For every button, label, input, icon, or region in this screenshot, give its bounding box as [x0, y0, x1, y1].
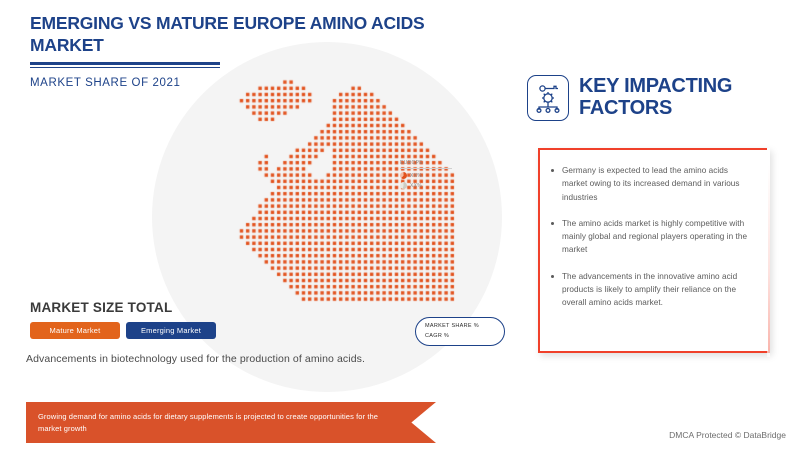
list-item-text: Germany is expected to lead the amino ac… — [562, 166, 740, 202]
key-impacting-factors-list: Germany is expected to lead the amino ac… — [540, 150, 768, 310]
emerging-market-button[interactable]: Emerging Market — [126, 322, 216, 339]
market-size-legend-buttons: Mature Market Emerging Market — [30, 322, 216, 339]
opportunity-banner-text: Growing demand for amino acids for dieta… — [26, 411, 436, 434]
footer-attribution: DMCA Protected © DataBridge — [669, 430, 786, 440]
cagr-label: CAGR % — [425, 332, 504, 341]
list-item-text: The amino acids market is highly competi… — [562, 219, 747, 255]
map-legend: EUROPE XX% XX% — [400, 160, 452, 189]
europe-dot-map — [150, 60, 490, 350]
map-legend-title: EUROPE — [400, 160, 452, 169]
map-caption: Advancements in biotechnology used for t… — [26, 353, 365, 365]
map-legend-row: XX% — [400, 182, 452, 189]
map-legend-value: XX% — [410, 183, 422, 189]
map-canvas — [150, 60, 490, 350]
pie-chart-icon-orange — [400, 172, 407, 179]
box-edge-fade — [767, 148, 770, 357]
map-legend-value: XX% — [410, 173, 422, 179]
map-legend-row: XX% — [400, 172, 452, 179]
list-item: The amino acids market is highly competi… — [562, 217, 754, 257]
key-impacting-factors-box: Germany is expected to lead the amino ac… — [538, 148, 770, 353]
opportunity-banner: Growing demand for amino acids for dieta… — [26, 402, 436, 443]
key-impacting-factors-header: KEY IMPACTING FACTORS — [527, 75, 800, 121]
list-item: Germany is expected to lead the amino ac… — [562, 164, 754, 204]
mature-market-button[interactable]: Mature Market — [30, 322, 120, 339]
page-title: EMERGING VS MATURE EUROPE AMINO ACIDS MA… — [30, 12, 460, 57]
market-share-cagr-badge: MARKET SHARE % CAGR % — [415, 317, 505, 346]
market-share-label: MARKET SHARE % — [425, 322, 504, 331]
pie-chart-icon-grey — [400, 182, 407, 189]
list-item-text: The advancements in the innovative amino… — [562, 272, 737, 308]
list-item: The advancements in the innovative amino… — [562, 270, 754, 310]
market-size-total-title: MARKET SIZE TOTAL — [30, 300, 172, 315]
network-gear-icon — [527, 75, 569, 121]
key-impacting-factors-title: KEY IMPACTING FACTORS — [579, 76, 800, 119]
